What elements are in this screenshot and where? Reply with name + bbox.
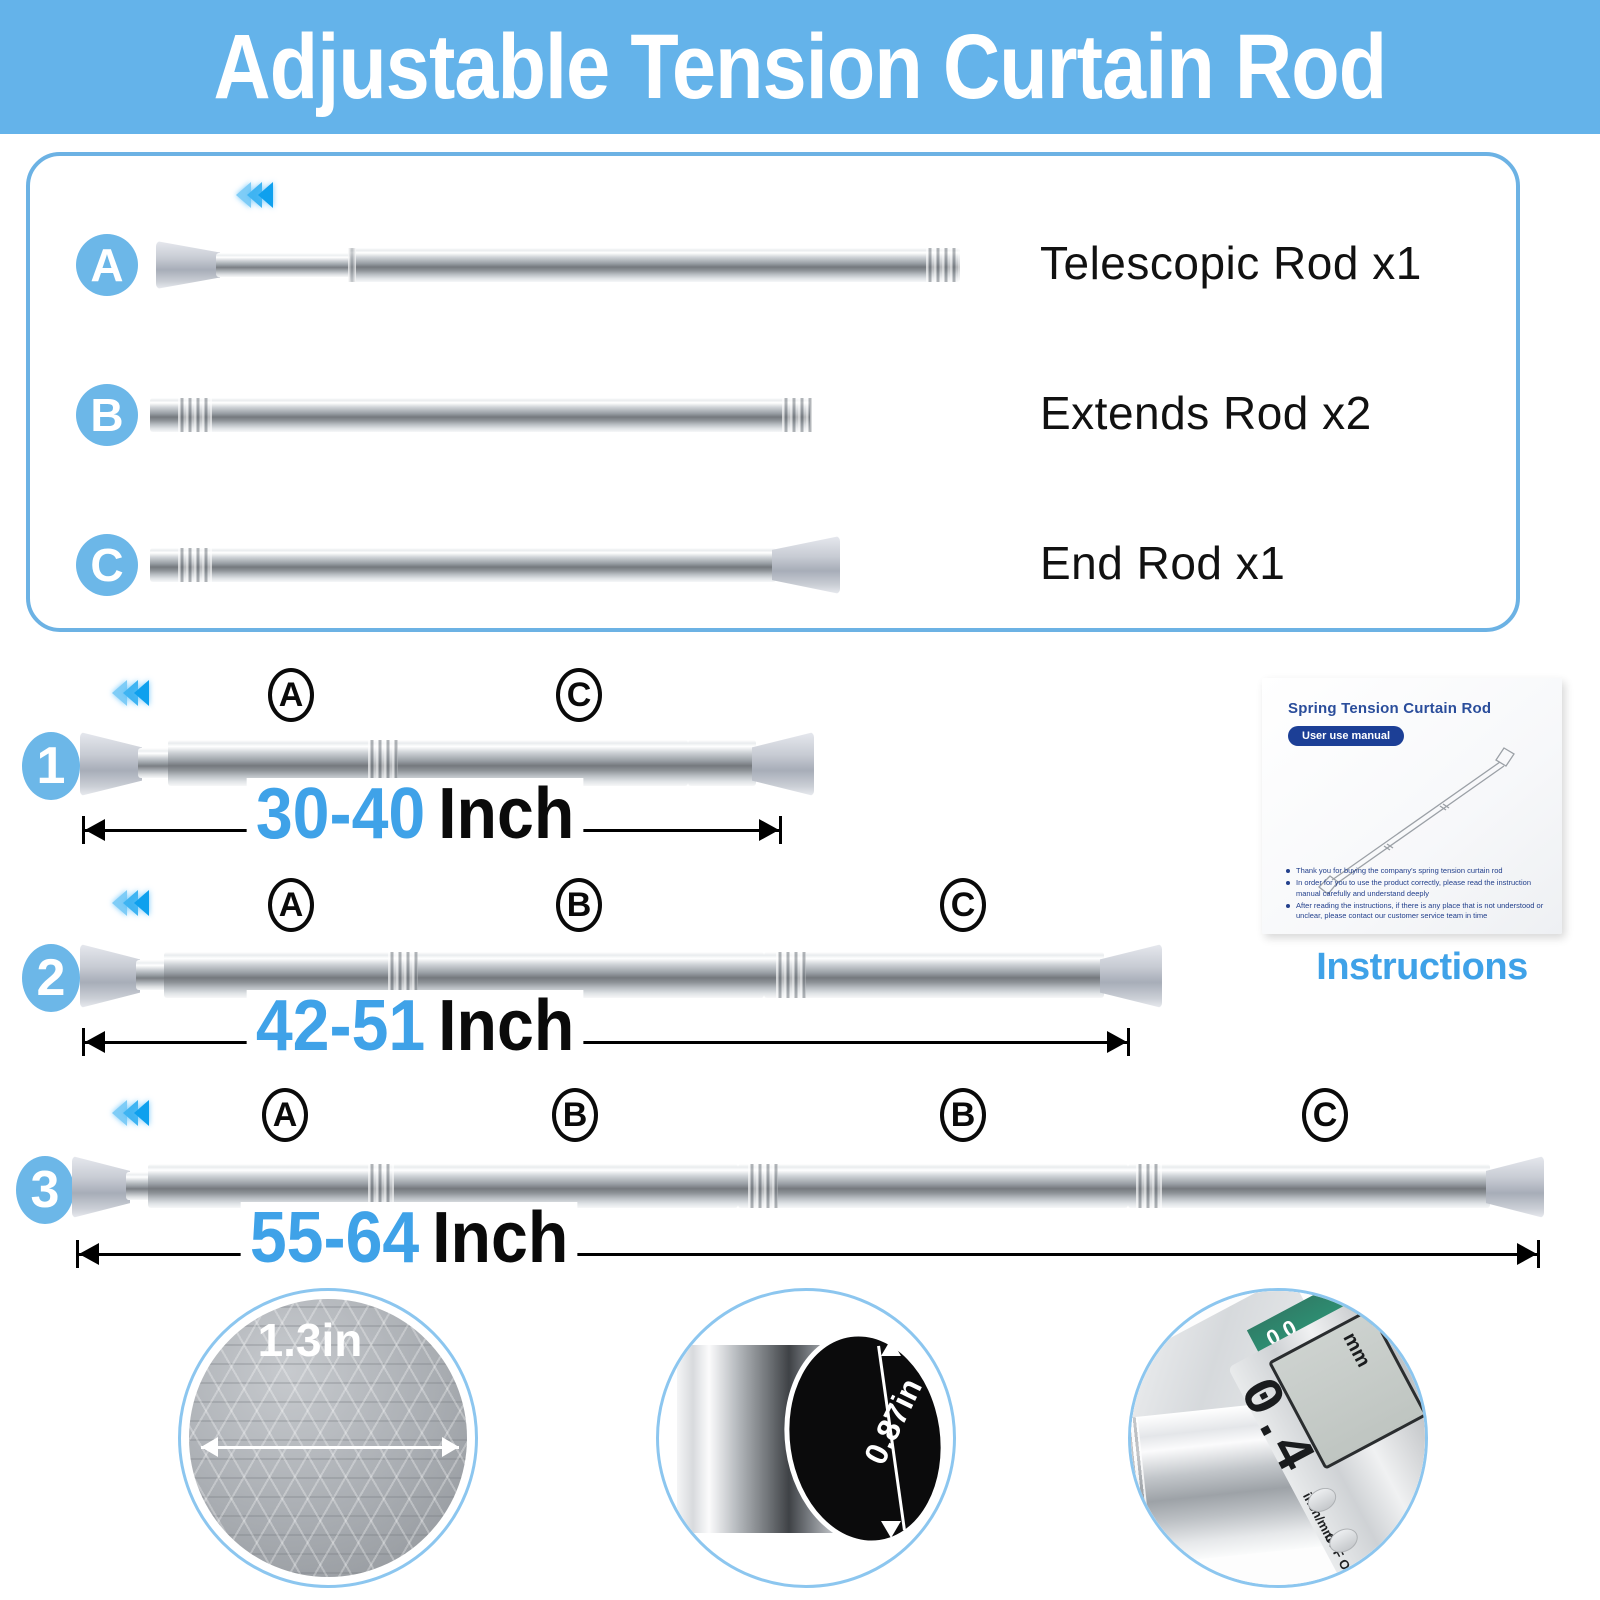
manual-title: Spring Tension Curtain Rod	[1288, 700, 1491, 717]
instructions-caption: Instructions	[1262, 946, 1582, 989]
assembly-2-marker-b: B	[556, 878, 602, 932]
part-badge-c: C	[76, 534, 138, 596]
parts-list-box: A Telescopic Rod x1 B Extends Rod x2 C E…	[26, 152, 1520, 632]
assembly-3-rod-b2	[1128, 1164, 1490, 1208]
part-badge-b: B	[76, 384, 138, 446]
assembly-number-2: 2	[22, 944, 80, 1012]
assembly-number-1: 1	[22, 732, 80, 800]
rod-threads-c	[178, 548, 212, 582]
assembly-2-marker-c: C	[940, 878, 986, 932]
assembly-1-cap-left	[80, 732, 142, 796]
assembly-3-marker-b2: B	[940, 1088, 986, 1142]
rod-segment-b-body	[150, 398, 810, 432]
rod-threads-b-right	[782, 398, 812, 432]
caliper-photo: 0 0 0.4 mm inch/mm OFF ON ZERO	[1131, 1291, 1425, 1585]
manual-bullet-1: Thank you for buying the company's sprin…	[1286, 866, 1544, 876]
assembly-2-rod-b	[764, 952, 1104, 998]
assembly-2-cap-right	[1100, 944, 1162, 1008]
page-title: Adjustable Tension Curtain Rod	[214, 21, 1387, 113]
part-row-c: C End Rod x1	[30, 504, 1516, 624]
rod-cap-c	[772, 536, 840, 594]
assembly-2-dimension-text: 42-51Inch	[247, 990, 584, 1062]
assembly-3-cap-right	[1486, 1156, 1544, 1218]
rod-seam-a	[348, 248, 356, 282]
instructions-block: Spring Tension Curtain Rod User use manu…	[1262, 678, 1582, 934]
part-row-b: B Extends Rod x2	[30, 354, 1516, 474]
assembly-3-marker-c: C	[1302, 1088, 1348, 1142]
assembly-3-cap-left	[72, 1156, 130, 1218]
assembly-1-dimension-text: 30-40Inch	[247, 778, 584, 850]
rod-segment-a-thin	[216, 253, 356, 277]
detail-circle-caliper: 0 0 0.4 mm inch/mm OFF ON ZERO	[1128, 1288, 1428, 1588]
rod-threads-a	[926, 248, 960, 282]
assembly-2-marker-a: A	[268, 878, 314, 932]
infographic-page: Adjustable Tension Curtain Rod A Telesco…	[0, 0, 1600, 1600]
detail-circle-tube: 0.87in	[656, 1288, 956, 1588]
assembly-number-3: 3	[16, 1156, 74, 1224]
tube-cross-section: 0.87in	[677, 1331, 945, 1546]
assembly-1-rod-c	[688, 740, 756, 786]
manual-bullet-2: In order for you to use the product corr…	[1286, 878, 1544, 899]
assembly-1-marker-a: A	[268, 668, 314, 722]
assembly-2-dimension-line: 42-51Inch	[82, 1022, 1130, 1062]
rod-segment-a-body	[350, 248, 960, 282]
part-label-c: End Rod x1	[1040, 536, 1285, 590]
chevron-arrows-icon-3	[112, 1100, 145, 1126]
part-row-a: A Telescopic Rod x1	[30, 204, 1516, 324]
assembly-3-rod-b1	[738, 1164, 1128, 1208]
assembly-3-dimension-line: 55-64Inch	[76, 1234, 1540, 1274]
chevron-arrows-icon-2	[112, 890, 145, 916]
header-banner: Adjustable Tension Curtain Rod	[0, 0, 1600, 134]
manual-bullet-3: After reading the instructions, if there…	[1286, 901, 1544, 922]
part-label-a: Telescopic Rod x1	[1040, 236, 1422, 290]
part-badge-a: A	[76, 234, 138, 296]
rod-segment-c-body	[150, 548, 776, 582]
assembly-1-neck	[138, 748, 172, 778]
chevron-arrows-icon-1	[112, 680, 145, 706]
assembly-3-marker-a: A	[262, 1088, 308, 1142]
detail-circle-cap: 1.3in	[178, 1288, 478, 1588]
assembly-3-threads-2	[748, 1164, 778, 1208]
manual-bullet-list: Thank you for buying the company's sprin…	[1286, 866, 1544, 924]
rod-cap-a	[156, 241, 220, 289]
assembly-2-threads-2	[776, 952, 806, 998]
manual-card: Spring Tension Curtain Rod User use manu…	[1262, 678, 1562, 934]
caliper-unit: mm	[1338, 1329, 1375, 1371]
assembly-3-marker-b1: B	[552, 1088, 598, 1142]
assembly-3-threads-3	[1136, 1164, 1162, 1208]
assembly-row-3: A B B C 3 55-64Inch	[0, 1082, 1600, 1282]
assembly-1-cap-right	[752, 732, 814, 796]
part-label-b: Extends Rod x2	[1040, 386, 1372, 440]
assembly-1-dimension-line: 30-40Inch	[82, 810, 782, 850]
cap-dimension-value: 1.3in	[181, 1313, 439, 1367]
assembly-2-cap-left	[80, 944, 140, 1008]
chevron-arrows-icon	[236, 182, 269, 208]
assembly-1-marker-c: C	[556, 668, 602, 722]
rod-threads-b-left	[178, 398, 212, 432]
cap-dimension-arrow	[201, 1433, 459, 1463]
assembly-3-dimension-text: 55-64Inch	[241, 1202, 578, 1274]
